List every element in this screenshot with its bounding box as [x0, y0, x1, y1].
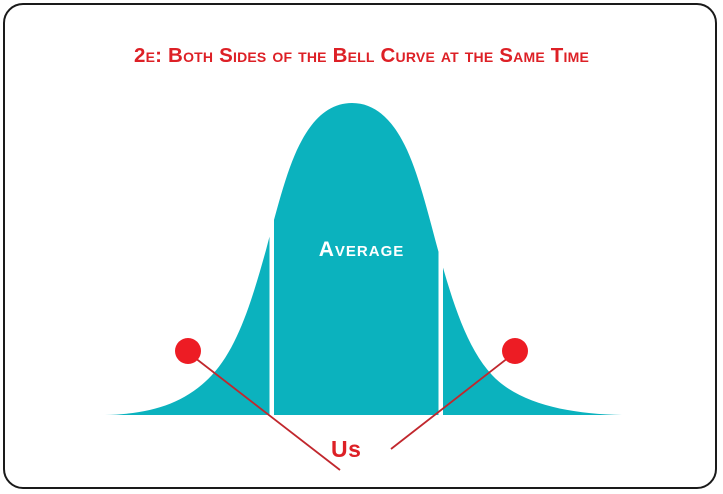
- left-marker-dot: [175, 338, 201, 364]
- right-divider: [439, 194, 444, 415]
- left-divider: [270, 194, 275, 415]
- right-marker-dot: [502, 338, 528, 364]
- us-label: Us: [331, 436, 361, 463]
- bell-curve-area: [105, 103, 622, 415]
- bell-curve-figure: [0, 0, 723, 494]
- slide: 2e: Both Sides of the Bell Curve at the …: [0, 0, 723, 494]
